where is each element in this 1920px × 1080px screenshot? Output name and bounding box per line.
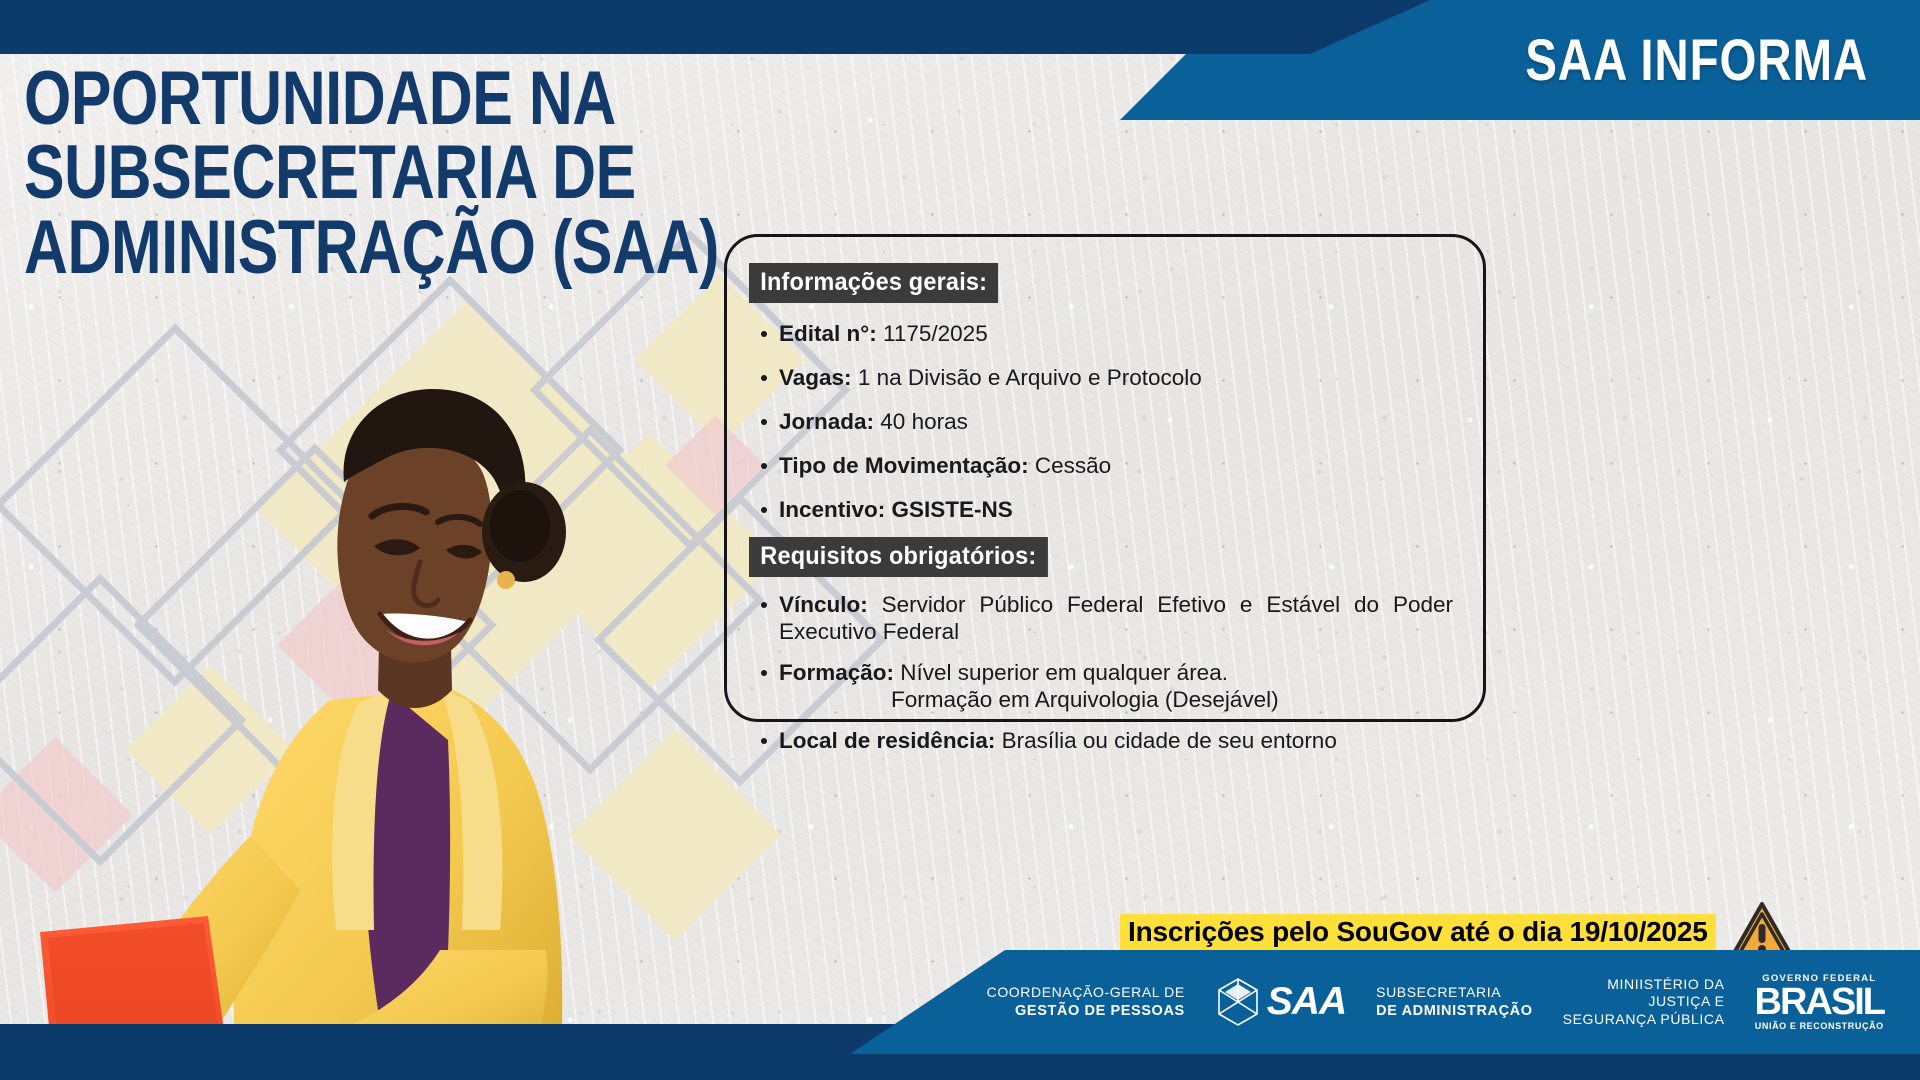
item-label: Edital n°: [779,321,877,346]
item-value: Servidor Público Federal Efetivo e Estáv… [779,592,1453,644]
item-label: Incentivo: [779,497,885,522]
item-label: Vínculo: [779,592,868,617]
item-label: Formação: [779,660,894,685]
item-label: Tipo de Movimentação: [779,453,1029,478]
item-value: 1175/2025 [883,321,988,346]
list-item: Formação: Nível superior em qualquer áre… [749,659,1467,713]
footer-coordination-line-2: GESTÃO DE PESSOAS [987,1002,1185,1020]
footer-coordination-line-1: COORDENAÇÃO-GERAL DE [987,984,1185,1002]
deadline-badge: Inscrições pelo SouGov até o dia 19/10/2… [1120,914,1716,952]
top-navy-band [0,0,1430,54]
brasil-logo-bottom: UNIÃO E RECONSTRUÇÃO [1755,1021,1884,1031]
requirements-list: Vínculo: Servidor Público Federal Efetiv… [749,591,1467,754]
item-value: GSISTE-NS [892,497,1013,522]
item-value: 1 na Divisão e Arquivo e Protocolo [858,365,1202,390]
saa-wordmark: SAA [1267,980,1346,1024]
saa-logo: SAA [1215,976,1346,1028]
brasil-government-logo: GOVERNO FEDERAL BRASIL UNIÃO E RECONSTRU… [1755,973,1884,1030]
footer-ministry-line-3: SEGURANÇA PÚBLICA [1563,1011,1725,1029]
list-item: Tipo de Movimentação: Cessão [749,452,1467,479]
header-title: SAA INFORMA [1525,27,1868,94]
item-value: Brasília ou cidade de seu entorno [1002,728,1337,753]
list-item: Edital n°: 1175/2025 [749,320,1467,347]
item-value: 40 horas [880,409,968,434]
item-label: Vagas: [779,365,852,390]
brasil-logo-wordmark: BRASIL [1755,984,1884,1020]
list-item: Local de residência: Brasília ou cidade … [749,727,1467,754]
footer-logo-bar: COORDENAÇÃO-GERAL DE GESTÃO DE PESSOAS S… [850,950,1920,1054]
item-value-secondary: Formação em Arquivologia (Desejável) [779,686,1467,713]
list-item: Vagas: 1 na Divisão e Arquivo e Protocol… [749,364,1467,391]
saa-cube-icon [1215,976,1261,1028]
item-value: Nível superior em qualquer área. [900,660,1228,685]
item-value: Cessão [1035,453,1111,478]
footer-subsecretaria-line-2: DE ADMINISTRAÇÃO [1376,1002,1532,1020]
list-item: Jornada: 40 horas [749,408,1467,435]
list-item: Vínculo: Servidor Público Federal Efetiv… [749,591,1467,645]
item-label: Jornada: [779,409,874,434]
footer-ministry-line-2: JUSTIÇA E [1563,993,1725,1011]
section-heading-requirements: Requisitos obrigatórios: [749,537,1048,577]
poster-canvas: SAA INFORMA OPORTUNIDADE NA SUBSECRETARI… [0,0,1920,1080]
general-info-list: Edital n°: 1175/2025 Vagas: 1 na Divisão… [749,320,1467,523]
footer-ministry-line-1: MINIISTÉRIO DA [1563,976,1725,994]
footer-ministry: MINIISTÉRIO DA JUSTIÇA E SEGURANÇA PÚBLI… [1563,976,1725,1029]
footer-subsecretaria-line-1: SUBSECRETARIA [1376,984,1532,1002]
page-title-line-1: OPORTUNIDADE NA SUBSECRETARIA DE [24,56,636,215]
list-item: Incentivo: GSISTE-NS [749,496,1467,523]
info-card: Informações gerais: Edital n°: 1175/2025… [724,234,1486,722]
item-label: Local de residência: [779,728,995,753]
footer-coordination: COORDENAÇÃO-GERAL DE GESTÃO DE PESSOAS [987,984,1185,1020]
section-heading-general: Informações gerais: [749,263,998,303]
footer-subsecretaria: SUBSECRETARIA DE ADMINISTRAÇÃO [1376,984,1532,1020]
photo-woman-with-laptop [0,270,700,1080]
